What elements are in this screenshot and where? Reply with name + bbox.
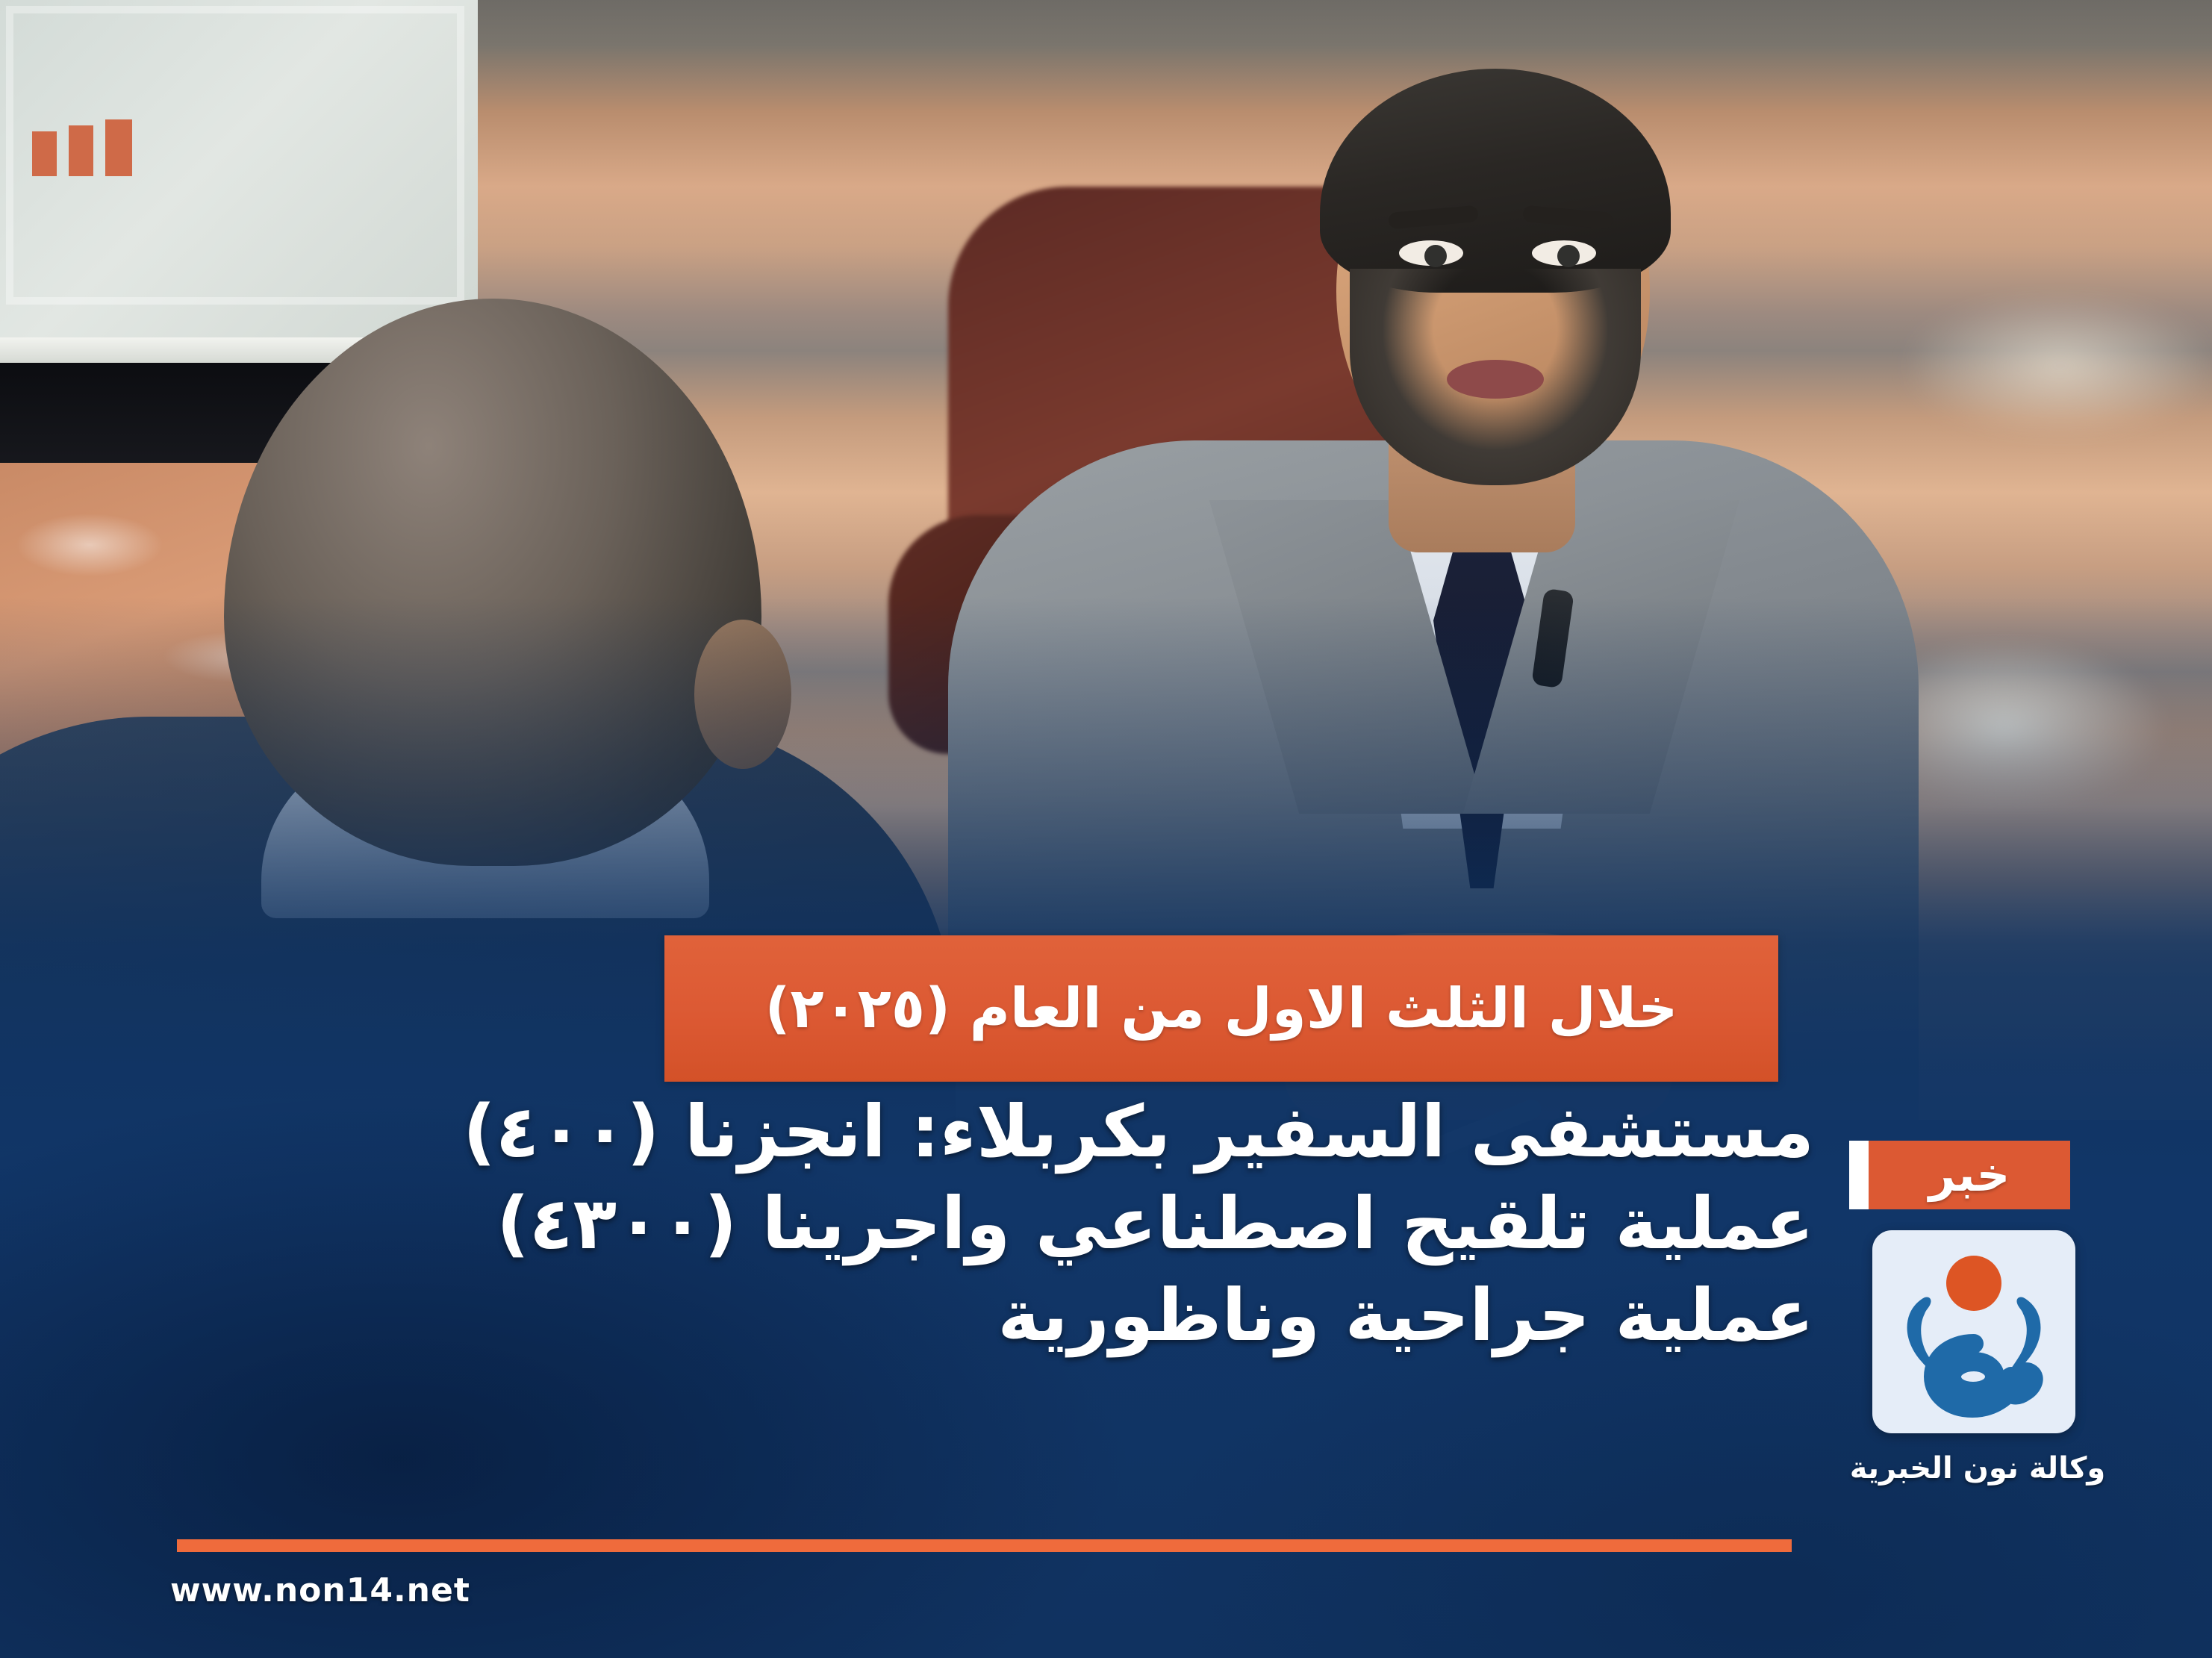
kicker-banner: خلال الثلث الاول من العام (٢٠٢٥) (664, 935, 1778, 1082)
bar-1 (105, 119, 132, 176)
bar-3 (32, 131, 57, 176)
headline-line-2: عملية تلقيح اصطناعي واجرينا (٤٣٠٠) (60, 1178, 1814, 1270)
news-type-badge-label: خبر (1929, 1152, 2010, 1198)
kicker-text: خلال الثلث الاول من العام (٢٠٢٥) (765, 981, 1678, 1036)
agency-name: وكالة نون الخبرية (1850, 1451, 2106, 1486)
noon-agency-logo-icon (1872, 1230, 2075, 1433)
brand-column: خبر وكالة نون الخبرية (1842, 1141, 2126, 1486)
headline-line-1: مستشفى السفير بكربلاء: انجزنا (٤٠٠) (60, 1086, 1814, 1178)
bar-2 (69, 125, 93, 176)
footer-divider (177, 1539, 1792, 1552)
news-card: خلال الثلث الاول من العام (٢٠٢٥) مستشفى … (0, 0, 2212, 1658)
news-type-badge: خبر (1869, 1141, 2070, 1209)
headline: مستشفى السفير بكربلاء: انجزنا (٤٠٠) عملي… (60, 1086, 1814, 1362)
website-url: www.non14.net (170, 1571, 470, 1609)
three-bars-icon (32, 119, 132, 176)
headline-line-3: عملية جراحية وناظورية (60, 1270, 1814, 1362)
logo-figure-icon (1872, 1230, 2075, 1433)
